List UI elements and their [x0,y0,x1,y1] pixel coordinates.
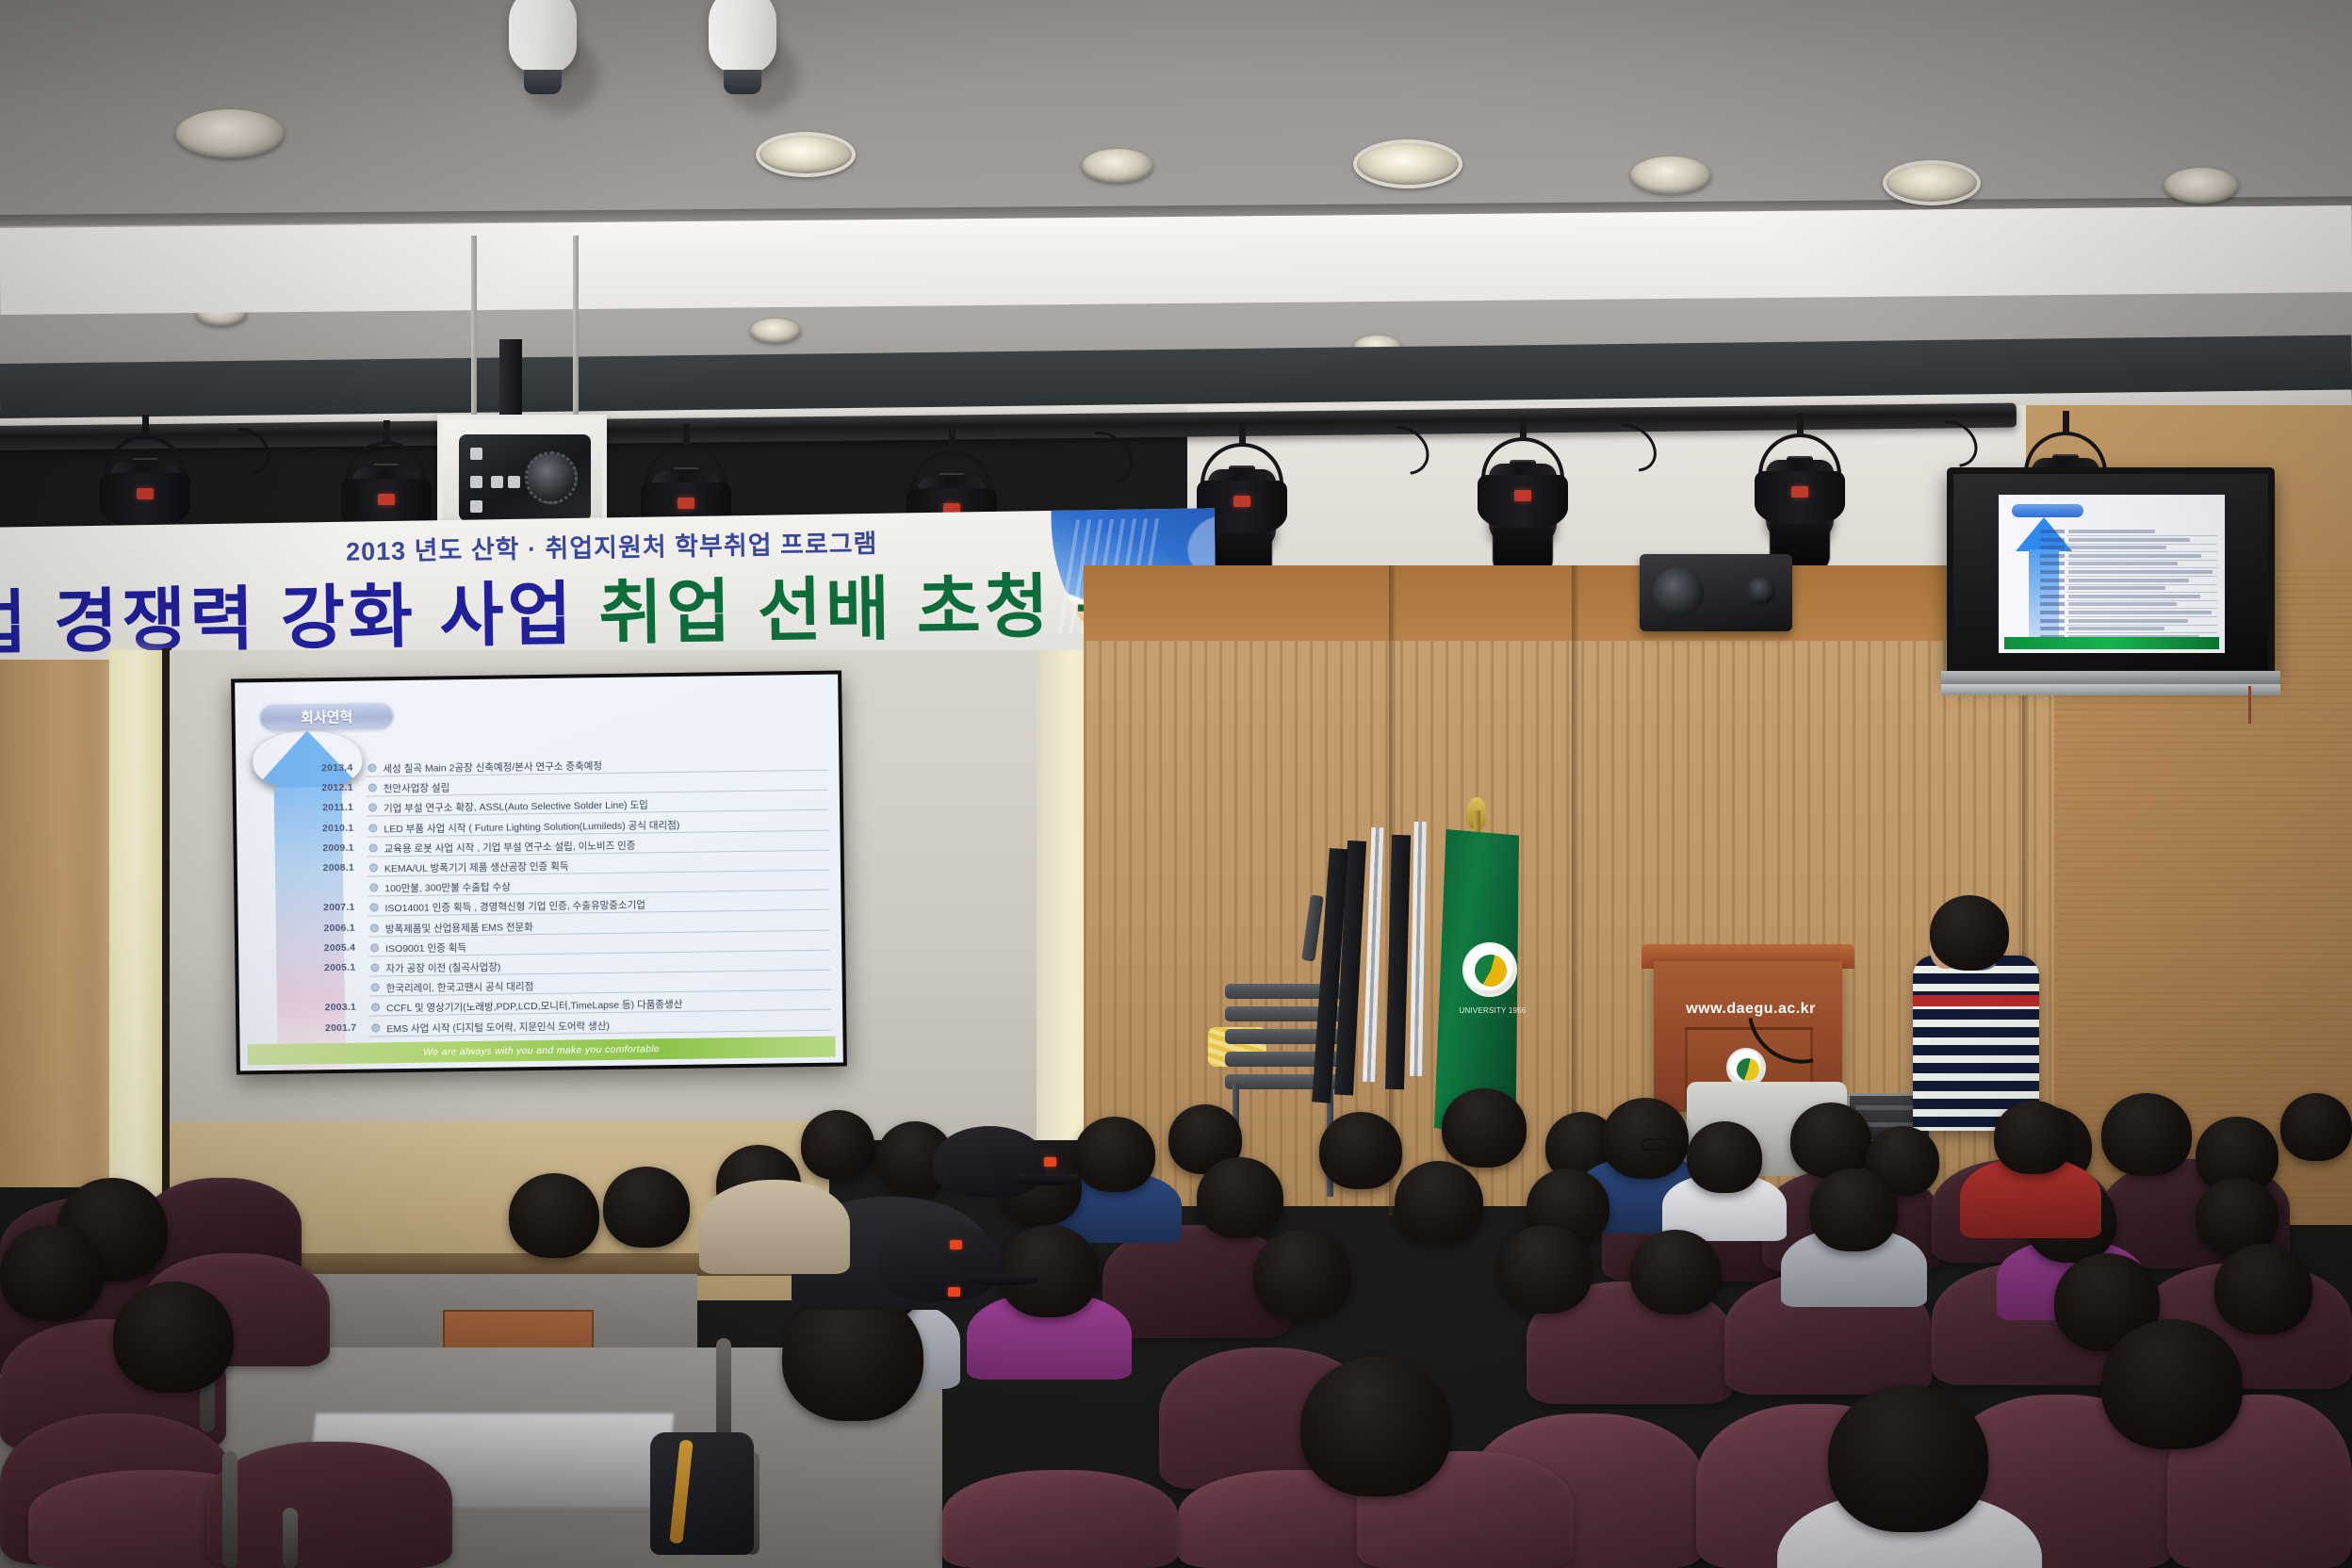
downlight-icon [1883,160,1981,205]
monitor-cable [2248,686,2251,724]
person-head [1442,1088,1527,1168]
stage-light-7 [1753,433,1847,543]
person-head [999,1225,1099,1317]
timeline-bullet-icon [370,963,379,972]
timeline-year: 2012.1 [293,782,353,794]
monitor-timeline-year [2040,586,2065,590]
monitor-timeline-year [2040,602,2065,606]
person-head [801,1110,874,1180]
projector-mount-rod [573,236,579,424]
person-head [782,1291,923,1421]
timeline-bullet-icon [371,1004,380,1012]
person-head [1197,1157,1283,1238]
monitor-timeline-text [2068,562,2178,565]
monitor-timeline-year [2040,595,2065,598]
person-head [1395,1161,1483,1244]
monitor-timeline-rule [2066,544,2217,545]
presenter-head [1930,895,2009,971]
seat [942,1470,1178,1568]
monitor-timeline-year [2040,546,2065,549]
person-shoulders [699,1180,850,1274]
cap-logo-icon [950,1240,962,1249]
monitor-timeline-rule [2066,576,2217,577]
timeline-bullet-icon [371,1023,380,1032]
monitor-timeline-rule [2066,567,2217,568]
person-head [1809,1168,1898,1251]
timeline-year: 2009.1 [294,842,354,855]
timeline-year: 2013.4 [292,762,352,775]
presenter-sweater-red-stripe [1913,995,2039,1006]
slide-badge: 회사연혁 [259,701,393,731]
cap-logo-icon [948,1287,960,1297]
timeline-year: 2010.1 [293,822,353,834]
timeline-year: 2011.1 [293,802,353,814]
monitor-timeline-text [2068,554,2201,558]
monitor-timeline-rule [2066,592,2217,593]
auditorium-photo: 2013 년도 산학 · 취업지원처 학부취업 프로그램 업 경쟁력 강화 사업… [0,0,2352,1568]
timeline-bullet-icon [369,904,378,912]
person-head [2101,1093,2192,1176]
timeline-year: 2001.7 [296,1021,356,1034]
monitor-timeline-rule [2066,608,2217,609]
monitor-timeline-year [2040,562,2065,565]
timeline-bullet-icon [367,763,376,772]
monitor-mount [1941,684,2280,695]
timeline-year: 2007.1 [294,902,354,914]
person-head [2280,1093,2352,1161]
timeline-year: 2005.1 [295,962,355,974]
monitor-timeline-rule [2066,584,2217,585]
monitor-timeline-text [2068,579,2189,582]
timeline-bullet-icon [369,863,378,872]
timeline-year: 2008.1 [294,862,354,874]
presentation-slide: 회사연혁 2013.4세성 칠곡 Main 2공장 신축예정/본사 연구소 증축… [235,675,843,1071]
person-head [1790,1102,1871,1178]
projector-lens-icon [525,451,578,504]
timeline-bullet-icon [369,884,378,892]
downlight-icon [1630,156,1711,194]
monitor-slide-footer [2004,637,2219,649]
monitor-timeline-year [2040,611,2065,614]
university-seal-icon [1462,942,1517,997]
person-head [1687,1121,1762,1193]
person-head [1300,1357,1451,1496]
podium-url-text: www.daegu.ac.kr [1673,1001,1829,1018]
monitor-timeline-text [2068,586,2165,590]
slide-arrow-graphic [253,730,367,1071]
armrest [283,1508,298,1568]
timeline-bullet-icon [368,784,377,792]
monitor-slide-badge [2012,504,2083,517]
seat [207,1442,452,1568]
monitor-timeline-rule [2066,560,2217,561]
monitor-timeline-rule [2066,535,2217,536]
wall-monitor [1947,467,2275,677]
cap-brim [1016,1174,1078,1185]
downlight-icon [750,318,801,343]
ceiling-pod-left [509,0,577,73]
monitor-timeline-rule [2066,551,2217,552]
monitor-timeline-text [2068,602,2177,606]
person-head [113,1282,234,1393]
monitor-timeline-text [2068,595,2200,598]
person-head [2101,1319,2243,1449]
monitor-timeline-year [2040,570,2065,574]
cap-logo-icon [1044,1157,1056,1167]
timeline-bullet-icon [369,843,378,852]
left-wall-light-strip [109,650,164,1197]
monitor-timeline-text [2068,627,2164,630]
monitor-timeline-rule [2066,625,2217,626]
person-head [603,1167,690,1248]
timeline-bullet-icon [370,923,379,932]
downlight-icon [1353,139,1462,188]
event-banner: 2013 년도 산학 · 취업지원처 학부취업 프로그램 업 경쟁력 강화 사업… [0,508,1217,671]
downlight-icon [175,109,285,158]
armrest [222,1451,237,1568]
monitor-timeline-text [2068,546,2166,549]
left-wall-wood [0,660,111,1187]
backpack [650,1432,754,1555]
baseball-cap [876,1220,1001,1301]
ceiling-pod-right [709,0,776,73]
person-head [1828,1385,1988,1532]
monitor-timeline-year [2040,579,2065,582]
person-head [2214,1244,2312,1334]
monitor-timeline-text [2068,530,2155,533]
person-head [1253,1230,1351,1320]
monitor-timeline-text [2068,619,2188,623]
monitor-screen [1999,495,2225,653]
person-head [1994,1101,2073,1174]
timeline-bullet-icon [371,984,380,992]
timeline-year: 2005.4 [295,942,355,955]
flag-seal-text: UNIVERSITY 1956 [1455,1006,1530,1015]
stage-light-6 [1476,437,1570,547]
monitor-timeline-text [2068,611,2212,614]
person-head [1498,1225,1592,1314]
eyeglasses [1641,1138,1679,1151]
person-head [0,1225,104,1321]
downlight-icon [1082,149,1153,183]
projection-screen: 회사연혁 2013.4세성 칠곡 Main 2공장 신축예정/본사 연구소 증축… [231,670,847,1074]
timeline-bullet-icon [368,824,377,832]
downlight-icon [2164,168,2239,204]
wall-speaker [1640,554,1792,631]
projector-mount-rod [471,236,477,424]
person-head [509,1173,599,1258]
monitor-timeline-year [2040,554,2065,558]
timeline-bullet-icon [368,804,377,812]
monitor-timeline-rule [2066,632,2217,633]
monitor-timeline-text [2068,538,2190,542]
timeline-bullet-icon [370,943,379,952]
monitor-timeline-year [2040,530,2065,533]
monitor-timeline-year [2040,627,2065,630]
person-head [1630,1230,1721,1315]
cap-brim [971,1274,1038,1285]
person-head [1074,1117,1155,1192]
baseball-cap [933,1126,1046,1198]
timeline-year: 2006.1 [295,922,355,934]
downlight-icon [756,132,856,177]
timeline-year: 2003.1 [296,1002,356,1014]
person-head [1319,1112,1402,1189]
monitor-timeline-text [2068,570,2213,574]
monitor-timeline-year [2040,538,2065,542]
monitor-timeline-rule [2066,616,2217,617]
monitor-timeline-rule [2066,600,2217,601]
monitor-timeline-year [2040,619,2065,623]
